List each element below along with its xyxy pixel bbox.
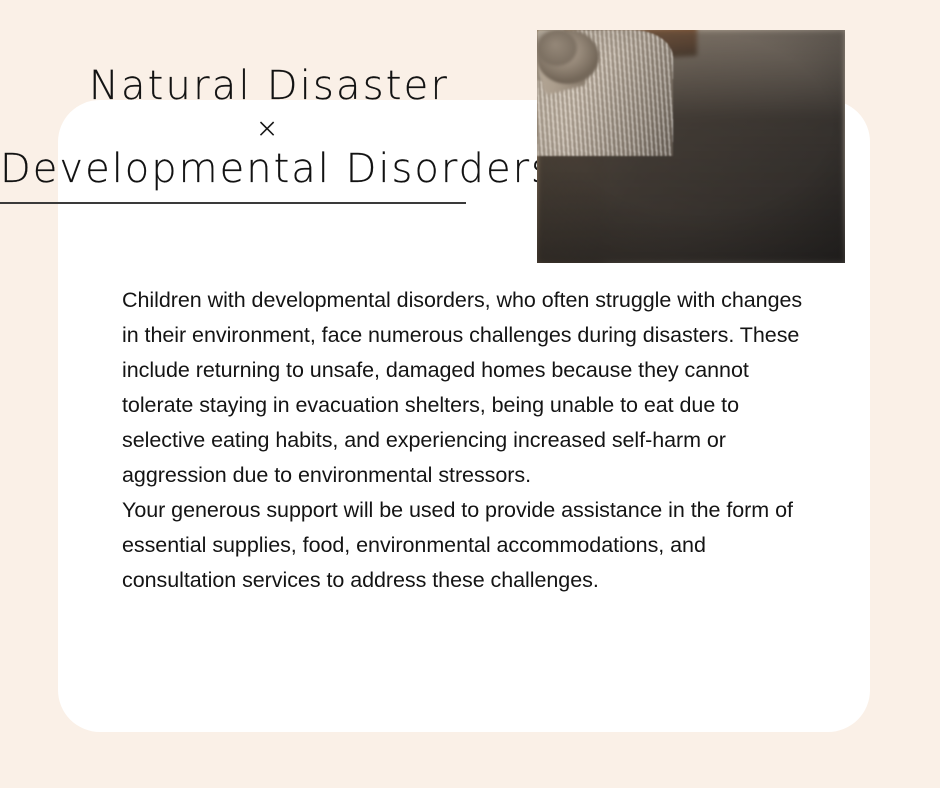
- body-paragraph-support: Your generous support will be used to pr…: [122, 493, 822, 598]
- title-underline-rule: [0, 202, 466, 204]
- photo-vignette: [537, 30, 845, 263]
- body-paragraph-challenges: Children with developmental disorders, w…: [122, 283, 822, 493]
- body-copy: Children with developmental disorders, w…: [122, 283, 822, 598]
- title-line-primary: Natural Disaster: [0, 66, 520, 106]
- title-line-secondary: Developmental Disorders: [0, 149, 520, 189]
- title-separator-cross: ×: [0, 115, 520, 142]
- page-title: Natural Disaster × Developmental Disorde…: [0, 66, 520, 189]
- hero-photo-child-with-headphones: [537, 30, 845, 263]
